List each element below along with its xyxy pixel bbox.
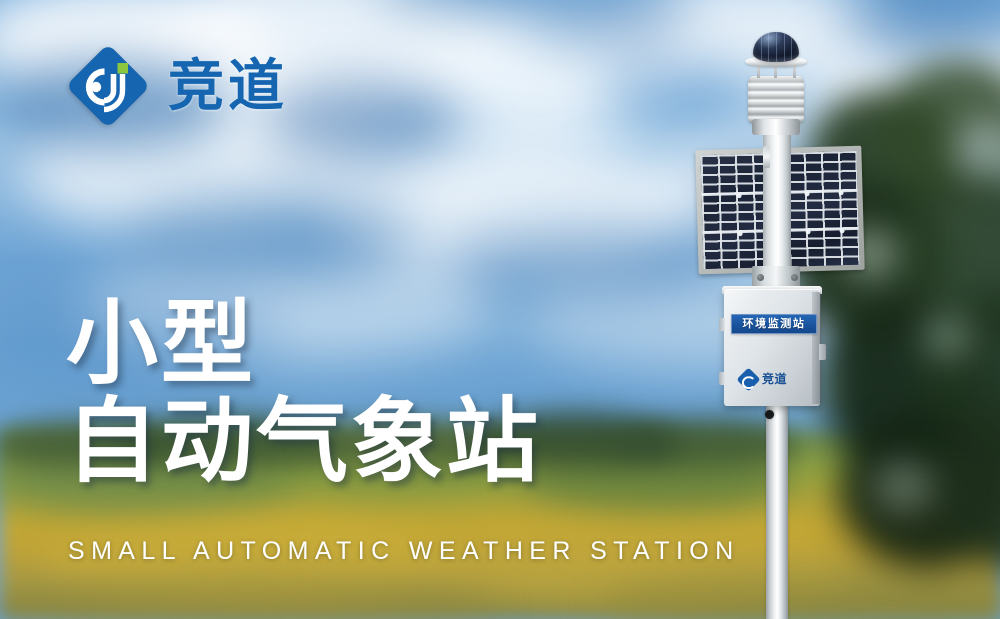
control-box-label-band: 环境监测站 (731, 314, 817, 334)
radiation-shield-icon (748, 76, 804, 124)
headline-line-2: 自动气象站 (66, 394, 541, 492)
headline-line-1: 小型 (66, 296, 541, 394)
brand-logo[interactable]: 竞道 (66, 44, 288, 128)
jingdao-diamond-logo-icon (66, 44, 150, 128)
ultrasonic-weather-sensor-icon (753, 32, 799, 62)
jingdao-diamond-logo-icon (736, 367, 760, 391)
control-box-brand-text: 竞道 (762, 373, 787, 385)
control-box-latch-icon (819, 344, 826, 360)
headline-block: 小型 自动气象站 (66, 296, 541, 491)
pole-fixing-bolt-icon (765, 410, 774, 419)
mounting-pole-upper-icon (763, 118, 791, 283)
control-box-brand: 竞道 (740, 368, 812, 390)
control-box-label-text: 环境监测站 (743, 319, 806, 330)
pole-latch-icon (763, 146, 770, 168)
sensor-base-icon (752, 119, 800, 135)
subtitle-text: SMALL AUTOMATIC WEATHER STATION (68, 539, 740, 564)
bracket-bolt-icon (757, 274, 764, 281)
product-banner: 环境监测站 竞道 竞道 小型 (0, 0, 1000, 619)
control-box-hinge-icon (719, 318, 725, 331)
control-box-hinge-icon (719, 372, 725, 385)
bracket-bolt-icon (791, 274, 798, 281)
brand-name: 竞道 (168, 58, 288, 114)
